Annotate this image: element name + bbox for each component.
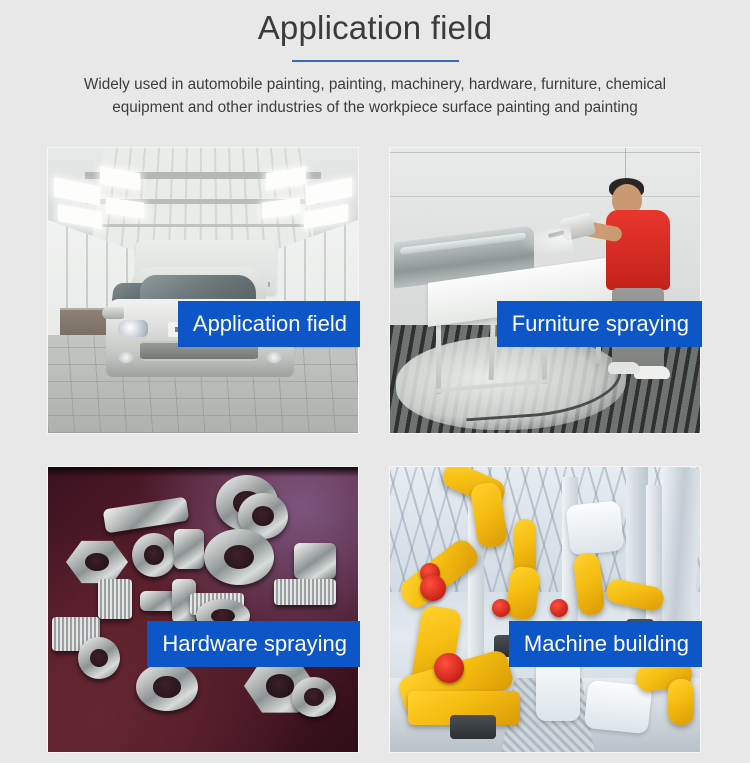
machine-block: [450, 715, 496, 739]
worker-shoe: [608, 362, 640, 374]
car-body-shell: [566, 500, 625, 555]
page-header: Application field Widely used in automob…: [0, 0, 750, 119]
gallery-tile-badge-furniture-spraying: Furniture spraying: [497, 301, 702, 347]
gallery-tile-application-field[interactable]: Application field: [48, 148, 358, 433]
worker-red-shirt: [606, 210, 670, 290]
robot-joint: [420, 575, 446, 601]
spray-booth-interior: [48, 148, 358, 433]
metal-fitting: [103, 497, 190, 534]
gallery-tile-hardware-spraying[interactable]: Hardware spraying: [48, 467, 358, 752]
car-side-mirror: [102, 307, 124, 319]
metal-fitting: [204, 529, 274, 585]
factory-interior: [390, 467, 700, 752]
photo-robotic-assembly-line: [390, 467, 700, 752]
page-description: Widely used in automobile painting, pain…: [51, 73, 699, 119]
robot-arm-segment: [505, 565, 541, 620]
metal-fitting: [292, 677, 336, 717]
gallery-tile-badge-machine-building: Machine building: [509, 621, 702, 667]
wall-seam-line: [390, 152, 700, 153]
furniture-spray-booth: [390, 148, 700, 433]
dark-maroon-surface: [48, 467, 358, 752]
title-underline-rule: [292, 60, 459, 62]
metal-fitting: [274, 579, 336, 605]
robot-joint: [550, 599, 568, 617]
robot-joint: [434, 653, 464, 683]
robot-joint: [492, 599, 510, 617]
gallery-tile-badge-application-field: Application field: [178, 301, 360, 347]
page-title: Application field: [0, 6, 750, 50]
car-headlight-left: [118, 320, 148, 337]
factory-column: [646, 485, 662, 639]
photo-worker-spraying-table: [390, 148, 700, 433]
metal-fitting: [78, 637, 120, 679]
metal-fitting: [136, 663, 198, 711]
metal-fitting: [98, 579, 132, 619]
photo-metal-fittings: [48, 467, 358, 752]
car-foglight-left: [118, 352, 134, 363]
application-gallery-grid: Application field: [48, 148, 700, 752]
gallery-tile-machine-building[interactable]: Machine building: [390, 467, 700, 752]
gallery-tile-badge-hardware-spraying: Hardware spraying: [147, 621, 360, 667]
application-field-page: Application field Widely used in automob…: [0, 0, 750, 763]
metal-fitting: [294, 543, 336, 579]
photo-car-in-spray-booth: [48, 148, 358, 433]
gallery-tile-furniture-spraying[interactable]: Furniture spraying: [390, 148, 700, 433]
metal-fitting: [174, 529, 204, 569]
robot-arm-segment: [668, 679, 694, 725]
car-foglight-right: [266, 352, 282, 363]
metal-fitting: [132, 533, 176, 577]
